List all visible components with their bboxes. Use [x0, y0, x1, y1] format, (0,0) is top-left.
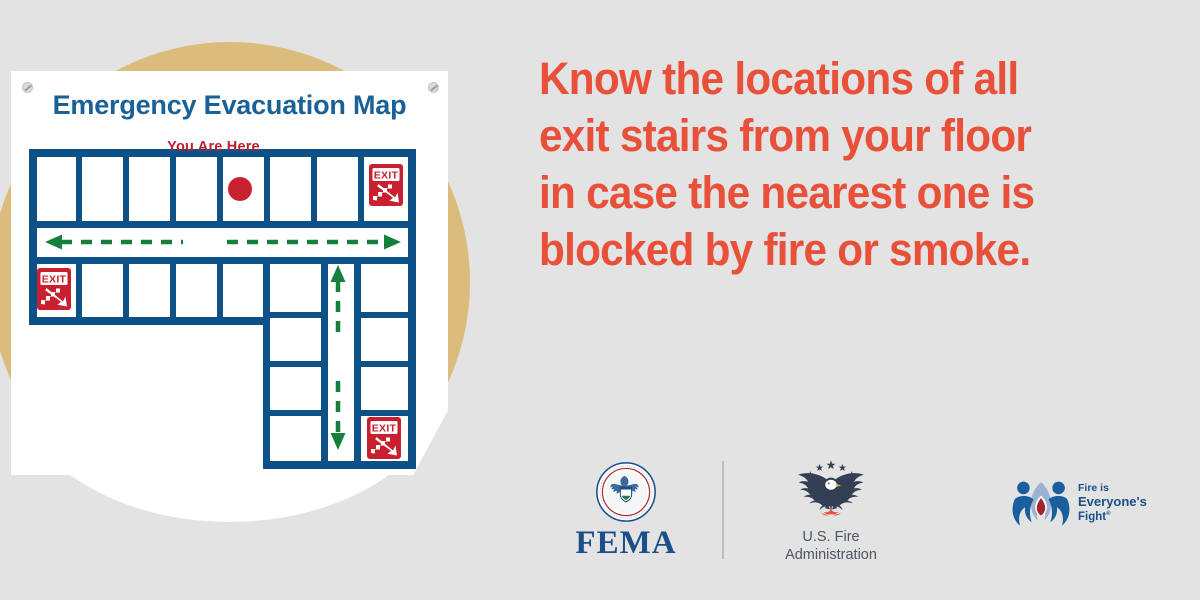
- fief-trademark: ®: [1106, 511, 1110, 517]
- exit-sign-bottom-right: [367, 417, 401, 459]
- usfa-logo: U.S. Fire Administration: [746, 459, 916, 564]
- headline-line-1: Know the locations of all: [539, 50, 1127, 107]
- exit-sign-top-right: [369, 164, 403, 206]
- fire-is-everyones-fight-logo: Fire is Everyone's Fight®: [1010, 477, 1185, 529]
- fief-line-2: Everyone's: [1078, 495, 1147, 508]
- fief-line-3-text: Fight: [1078, 511, 1106, 523]
- poster-title: Emergency Evacuation Map: [11, 90, 448, 121]
- poster-canvas: Emergency Evacuation Map You Are Here EX…: [0, 0, 1200, 600]
- usfa-line-2: Administration: [746, 546, 916, 564]
- fief-wordmark: Fire is Everyone's Fight®: [1078, 482, 1147, 524]
- usfa-line-1: U.S. Fire: [746, 528, 916, 546]
- dhs-seal-icon: [595, 461, 657, 523]
- evacuation-map-graphic: Emergency Evacuation Map You Are Here EX…: [0, 0, 520, 600]
- usfa-eagle-emblem-icon: [788, 459, 874, 527]
- egress-arrow-south-head: [331, 433, 346, 450]
- headline-line-3: in case the nearest one is: [539, 164, 1127, 221]
- egress-arrow-east-head: [384, 235, 401, 250]
- logo-row: FEMA: [530, 455, 1190, 575]
- exit-sign-mid-left: [37, 268, 71, 310]
- egress-arrow-north-head: [331, 265, 346, 282]
- floor-plan-diagram: EXIT: [11, 145, 431, 475]
- usfa-wordmark: U.S. Fire Administration: [746, 528, 916, 564]
- fema-logo: FEMA: [546, 461, 706, 562]
- fief-line-3: Fight®: [1078, 508, 1147, 524]
- egress-arrow-west-head: [45, 235, 62, 250]
- fief-people-flame-icon: [1010, 477, 1072, 529]
- headline-line-2: exit stairs from your floor: [539, 107, 1127, 164]
- you-are-here-dot: [228, 177, 252, 201]
- headline: Know the locations of all exit stairs fr…: [539, 50, 1164, 278]
- headline-line-4: blocked by fire or smoke.: [539, 221, 1127, 278]
- you-are-here-label: You Are Here: [11, 139, 416, 155]
- logo-divider: [722, 461, 724, 559]
- fema-wordmark: FEMA: [546, 525, 706, 562]
